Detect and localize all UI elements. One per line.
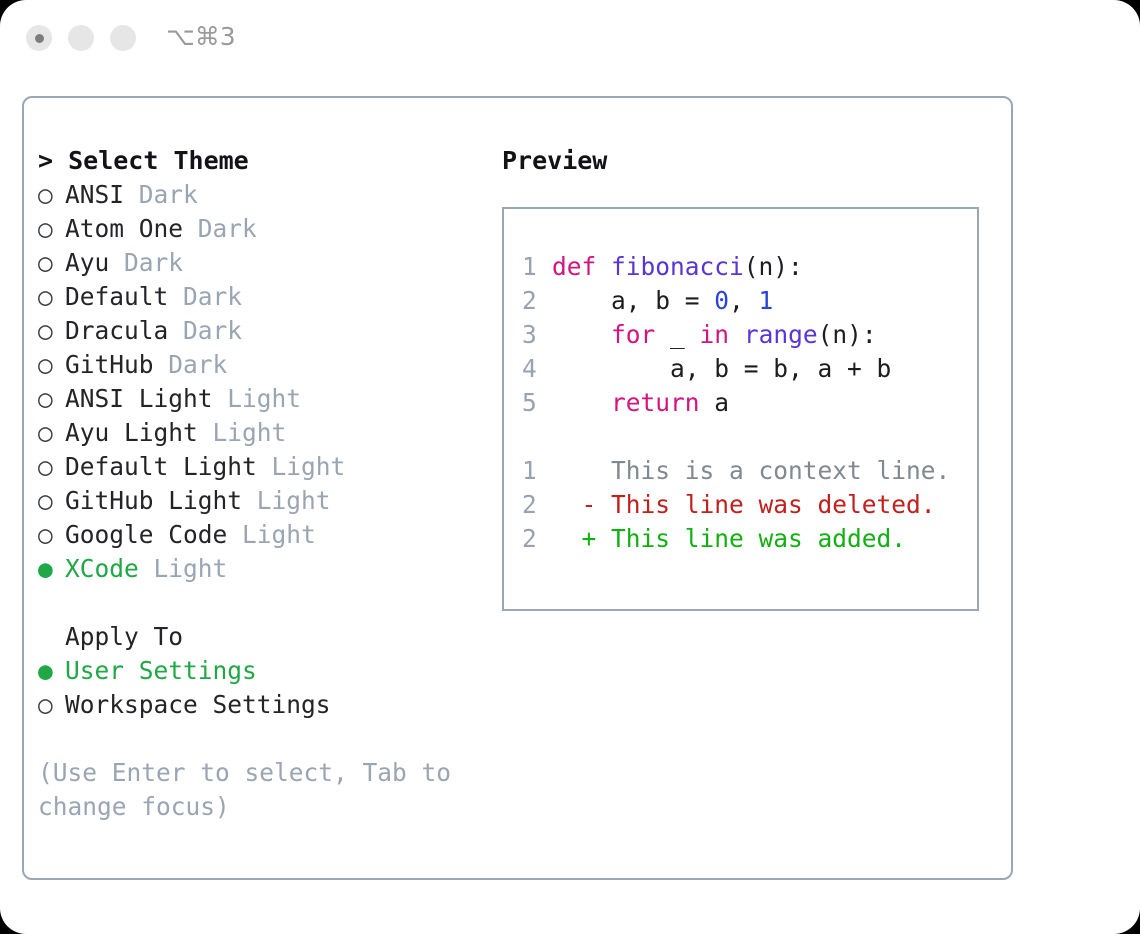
theme-option-label: Google Code [65,520,227,549]
code-token: fibonacci [611,252,744,281]
line-number: 1 [522,454,552,488]
theme-option-list: ○ANSI Dark○Atom One Dark○Ayu Dark○Defaul… [38,178,478,586]
radio-unselected-icon: ○ [38,484,65,518]
theme-variant-label: Dark [109,248,183,277]
theme-option-atom-one[interactable]: ○Atom One Dark [38,212,478,246]
code-token: range [744,320,818,349]
code-token: (n): [818,320,877,349]
code-line: 5 return a [522,386,950,420]
theme-option-label: GitHub [65,350,154,379]
theme-option-ayu[interactable]: ○Ayu Dark [38,246,478,280]
radio-unselected-icon: ○ [38,246,65,280]
theme-option-label: GitHub Light [65,486,242,515]
diff-line-text: - This line was deleted. [552,490,936,519]
theme-variant-label: Dark [168,282,242,311]
code-token: (n): [744,252,803,281]
preview-box: 1def fibonacci(n):2 a, b = 0, 13 for _ i… [502,207,979,611]
theme-option-ansi[interactable]: ○ANSI Dark [38,178,478,212]
radio-unselected-icon: ○ [38,314,65,348]
theme-option-github-light[interactable]: ○GitHub Light Light [38,484,478,518]
line-number: 3 [522,318,552,352]
window-controls [26,25,136,51]
code-token: for [611,320,655,349]
code-line: 3 for _ in range(n): [522,318,950,352]
theme-variant-label: Dark [168,316,242,345]
theme-option-label: XCode [65,554,139,583]
code-line: 1def fibonacci(n): [522,250,950,284]
theme-variant-label: Light [139,554,228,583]
code-sample: 1def fibonacci(n):2 a, b = 0, 13 for _ i… [522,250,950,556]
preview-panel: Preview 1def fibonacci(n):2 a, b = 0, 13… [502,144,1002,611]
theme-variant-label: Light [242,486,331,515]
code-token: 1 [759,286,774,315]
code-token: a, b = [552,286,714,315]
code-token: return [611,388,700,417]
line-number: 2 [522,284,552,318]
theme-option-label: Ayu Light [65,418,198,447]
apply-to-option-label: Workspace Settings [65,690,331,719]
theme-variant-label: Light [213,384,302,413]
code-token: in [700,320,730,349]
radio-unselected-icon: ○ [38,450,65,484]
traffic-light-dot-icon [35,34,44,43]
radio-unselected-icon: ○ [38,280,65,314]
radio-unselected-icon: ○ [38,178,65,212]
theme-variant-label: Light [257,452,346,481]
keyboard-shortcut-label: ⌥⌘3 [166,22,236,51]
code-token [552,320,611,349]
traffic-light-3[interactable] [110,25,136,51]
code-token: _ [655,320,699,349]
diff-line-text: + This line was added. [552,524,906,553]
spacer [38,586,478,620]
theme-variant-label: Dark [124,180,198,209]
line-number: 2 [522,488,552,522]
radio-unselected-icon: ○ [38,416,65,450]
line-number: 2 [522,522,552,556]
theme-option-ansi-light[interactable]: ○ANSI Light Light [38,382,478,416]
preview-title: Preview [502,144,1002,178]
apply-to-option-workspace-settings[interactable]: ○Workspace Settings [38,688,478,722]
theme-option-label: Default Light [65,452,257,481]
keyboard-hint-text: (Use Enter to select, Tab to change focu… [38,756,458,824]
radio-unselected-icon: ○ [38,212,65,246]
apply-to-label: Apply To [38,620,478,654]
diff-line-ctx: 1 This is a context line. [522,454,950,488]
radio-unselected-icon: ○ [38,382,65,416]
app-window: ⌥⌘3 > Select Theme ○ANSI Dark○Atom One D… [0,0,1140,934]
apply-to-option-label: User Settings [65,656,257,685]
code-line: 4 a, b = b, a + b [522,352,950,386]
theme-variant-label: Dark [183,214,257,243]
apply-to-indent [38,620,65,654]
code-token: 0 [714,286,729,315]
theme-variant-label: Light [198,418,287,447]
line-number: 4 [522,352,552,386]
radio-unselected-icon: ○ [38,518,65,552]
radio-unselected-icon: ○ [38,348,65,382]
code-token [552,388,611,417]
theme-option-github[interactable]: ○GitHub Dark [38,348,478,382]
code-token [596,252,611,281]
traffic-light-1[interactable] [26,25,52,51]
theme-option-label: ANSI Light [65,384,213,413]
theme-option-label: Default [65,282,168,311]
theme-option-ayu-light[interactable]: ○Ayu Light Light [38,416,478,450]
diff-line-add: 2 + This line was added. [522,522,950,556]
code-token: a, b = b, a + b [552,354,891,383]
line-number: 1 [522,250,552,284]
radio-selected-icon: ● [38,552,65,586]
code-token: a [700,388,730,417]
select-theme-header: > Select Theme [38,144,478,178]
title-bar: ⌥⌘3 [0,0,1140,78]
theme-option-default-light[interactable]: ○Default Light Light [38,450,478,484]
code-diff-separator [522,420,950,454]
theme-option-label: ANSI [65,180,124,209]
theme-variant-label: Light [227,520,316,549]
apply-to-option-user-settings[interactable]: ●User Settings [38,654,478,688]
theme-option-label: Dracula [65,316,168,345]
code-token: , [729,286,759,315]
code-token [729,320,744,349]
line-number: 5 [522,386,552,420]
traffic-light-2[interactable] [68,25,94,51]
diff-line-del: 2 - This line was deleted. [522,488,950,522]
theme-option-dracula[interactable]: ○Dracula Dark [38,314,478,348]
theme-option-default[interactable]: ○Default Dark [38,280,478,314]
code-line: 2 a, b = 0, 1 [522,284,950,318]
theme-option-label: Ayu [65,248,109,277]
dialog-frame: > Select Theme ○ANSI Dark○Atom One Dark○… [22,96,1013,880]
radio-unselected-icon: ○ [38,688,65,722]
theme-option-xcode[interactable]: ●XCode Light [38,552,478,586]
theme-option-google-code[interactable]: ○Google Code Light [38,518,478,552]
radio-selected-icon: ● [38,654,65,688]
theme-select-panel: > Select Theme ○ANSI Dark○Atom One Dark○… [38,144,478,824]
code-token: def [552,252,596,281]
apply-to-option-list: ●User Settings○Workspace Settings [38,654,478,722]
theme-variant-label: Dark [154,350,228,379]
theme-option-label: Atom One [65,214,183,243]
diff-line-text: This is a context line. [552,456,950,485]
